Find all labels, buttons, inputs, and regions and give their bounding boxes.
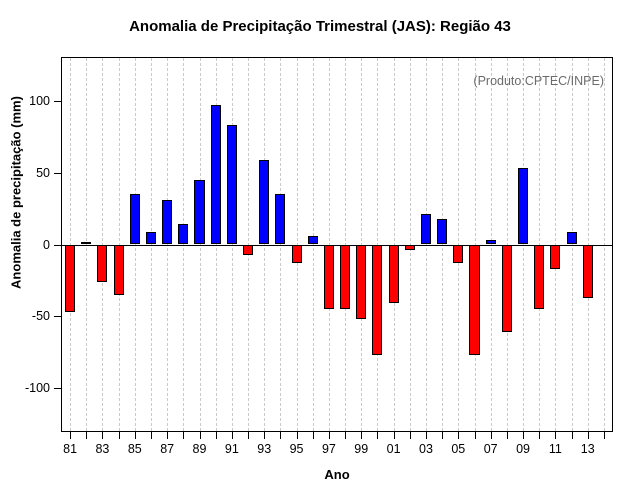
x-tick-mark <box>394 432 395 439</box>
bar <box>583 245 593 298</box>
x-tick-mark <box>280 432 281 439</box>
x-tick-label: 91 <box>225 442 239 456</box>
x-tick-mark <box>377 432 378 439</box>
y-tick-mark <box>54 101 61 102</box>
x-tick-label: 89 <box>193 442 207 456</box>
y-tick-mark <box>54 245 61 246</box>
x-tick-label: 97 <box>322 442 336 456</box>
bar <box>518 168 528 244</box>
x-tick-mark <box>70 432 71 439</box>
chart-title: Anomalia de Precipitação Trimestral (JAS… <box>0 18 640 35</box>
x-tick-mark <box>523 432 524 439</box>
x-tick-label: 03 <box>419 442 433 456</box>
x-tick-mark <box>345 432 346 439</box>
bar <box>243 245 253 255</box>
bar <box>356 245 366 320</box>
x-tick-mark <box>361 432 362 439</box>
x-tick-mark <box>200 432 201 439</box>
bar <box>324 245 334 310</box>
x-tick-mark <box>555 432 556 439</box>
bar <box>469 245 479 355</box>
bar <box>502 245 512 333</box>
y-tick-label: 100 <box>29 94 50 108</box>
bar <box>162 200 172 244</box>
x-tick-label: 01 <box>387 442 401 456</box>
x-tick-mark <box>232 432 233 439</box>
x-axis-title: Ano <box>61 467 613 482</box>
bar <box>550 245 560 269</box>
x-tick-mark <box>539 432 540 439</box>
plot-area: (Produto:CPTEC/INPE) <box>61 57 613 432</box>
x-tick-label: 93 <box>257 442 271 456</box>
x-axis: 8183858789919395979901030507091113 <box>61 432 613 472</box>
y-tick-label: -100 <box>25 381 50 395</box>
x-tick-label: 09 <box>516 442 530 456</box>
x-tick-mark <box>507 432 508 439</box>
chart-container: Anomalia de Precipitação Trimestral (JAS… <box>0 0 640 500</box>
bar <box>389 245 399 304</box>
x-tick-mark <box>297 432 298 439</box>
zero-baseline <box>62 245 612 246</box>
x-tick-label: 85 <box>128 442 142 456</box>
x-tick-label: 05 <box>451 442 465 456</box>
x-tick-mark <box>135 432 136 439</box>
x-tick-mark <box>588 432 589 439</box>
x-tick-mark <box>102 432 103 439</box>
x-tick-mark <box>313 432 314 439</box>
x-tick-mark <box>248 432 249 439</box>
bar <box>259 160 269 245</box>
y-axis: Anomalia de precipitação (mm) -100-50050… <box>0 57 61 432</box>
x-tick-mark <box>426 432 427 439</box>
bar <box>227 125 237 244</box>
x-tick-mark <box>167 432 168 439</box>
bar <box>421 214 431 244</box>
x-tick-label: 81 <box>63 442 77 456</box>
x-tick-mark <box>119 432 120 439</box>
bar <box>211 105 221 244</box>
x-tick-mark <box>216 432 217 439</box>
x-tick-label: 07 <box>484 442 498 456</box>
x-tick-mark <box>604 432 605 439</box>
x-tick-mark <box>442 432 443 439</box>
x-tick-label: 11 <box>549 442 562 456</box>
y-tick-mark <box>54 388 61 389</box>
x-tick-mark <box>329 432 330 439</box>
x-tick-mark <box>458 432 459 439</box>
x-tick-label: 95 <box>290 442 304 456</box>
y-axis-title: Anomalia de precipitação (mm) <box>9 68 24 318</box>
x-tick-mark <box>491 432 492 439</box>
x-tick-mark <box>410 432 411 439</box>
y-tick-label: 50 <box>36 166 50 180</box>
bar <box>65 245 75 312</box>
x-tick-label: 87 <box>160 442 174 456</box>
x-tick-mark <box>86 432 87 439</box>
bar <box>275 194 285 244</box>
x-tick-mark <box>572 432 573 439</box>
bar <box>308 236 318 245</box>
bar <box>130 194 140 244</box>
bar <box>194 180 204 245</box>
bar <box>567 232 577 245</box>
x-tick-mark <box>183 432 184 439</box>
bar <box>146 232 156 245</box>
bar <box>178 224 188 244</box>
x-tick-mark <box>475 432 476 439</box>
bar <box>453 245 463 264</box>
bar <box>97 245 107 282</box>
x-tick-label: 13 <box>581 442 595 456</box>
bar <box>340 245 350 310</box>
bar <box>534 245 544 310</box>
source-annotation: (Produto:CPTEC/INPE) <box>473 74 604 88</box>
y-tick-mark <box>54 316 61 317</box>
x-tick-label: 99 <box>354 442 368 456</box>
y-tick-label: 0 <box>43 238 50 252</box>
bar <box>292 245 302 264</box>
y-tick-label: -50 <box>32 309 50 323</box>
bar <box>372 245 382 355</box>
bar <box>114 245 124 295</box>
x-tick-mark <box>264 432 265 439</box>
y-tick-mark <box>54 173 61 174</box>
x-tick-label: 83 <box>95 442 109 456</box>
x-tick-mark <box>151 432 152 439</box>
bar <box>437 219 447 245</box>
